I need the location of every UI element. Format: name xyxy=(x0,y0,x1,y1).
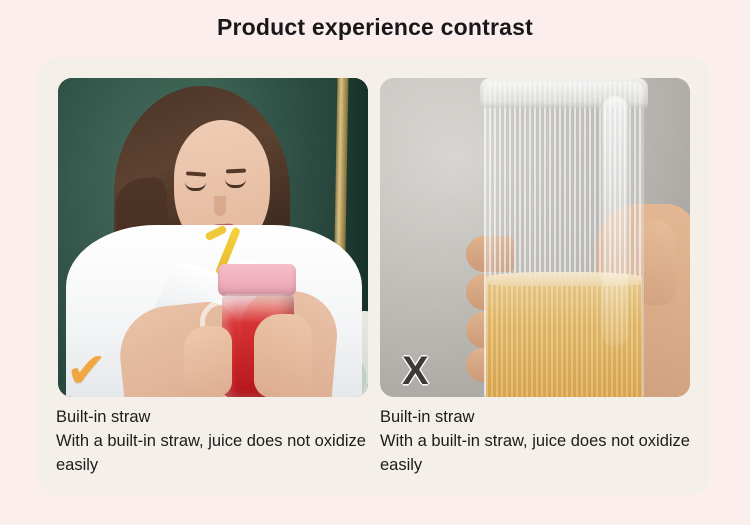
captions-row: Built-in straw With a built-in straw, ju… xyxy=(56,405,692,477)
cross-icon: X xyxy=(402,351,434,391)
woman-hand-left xyxy=(184,326,232,396)
woman-nose xyxy=(214,196,226,216)
blender-pink-lid xyxy=(218,264,296,296)
woman-hand-right xyxy=(254,314,312,397)
comparison-panels: ✔ X xyxy=(58,78,690,397)
cup-highlight xyxy=(602,96,628,346)
photo-left-woman-drinking[interactable]: ✔ xyxy=(58,78,368,397)
panel-right: X xyxy=(380,78,690,397)
photo-right-hand-holding-cup[interactable]: X xyxy=(380,78,690,397)
page-title: Product experience contrast xyxy=(0,14,750,41)
caption-left-heading: Built-in straw xyxy=(56,405,368,429)
panel-left: ✔ xyxy=(58,78,368,397)
comparison-card: ✔ X Built-in straw xyxy=(38,58,710,495)
caption-right-description: With a built-in straw, juice does not ox… xyxy=(380,429,692,477)
caption-left: Built-in straw With a built-in straw, ju… xyxy=(56,405,368,477)
caption-left-description: With a built-in straw, juice does not ox… xyxy=(56,429,368,477)
caption-right-heading: Built-in straw xyxy=(380,405,692,429)
check-icon: ✔ xyxy=(66,349,110,395)
caption-right: Built-in straw With a built-in straw, ju… xyxy=(380,405,692,477)
